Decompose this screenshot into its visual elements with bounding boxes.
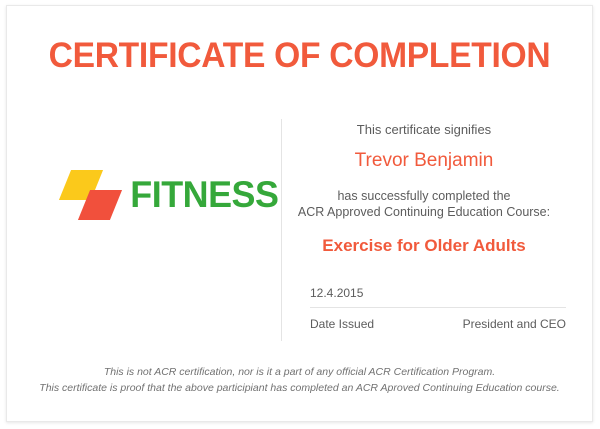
fitness-logo: FITNESS [63, 169, 281, 221]
footer-line-1: This is not ACR certification, nor is it… [7, 364, 592, 380]
signifies-label: This certificate signifies [282, 122, 566, 137]
certificate-title: CERTIFICATE OF COMPLETION [19, 36, 581, 76]
completion-line-2: ACR Approved Continuing Education Course… [282, 204, 566, 220]
logo-wordmark: FITNESS [130, 174, 278, 216]
signer-title-label: President and CEO [463, 317, 566, 331]
date-issued-value: 12.4.2015 [310, 286, 566, 307]
certificate-body: FITNESS This certificate signifies Trevo… [7, 106, 592, 351]
signature-labels: Date Issued President and CEO [310, 308, 566, 331]
completion-line-1: has successfully completed the [282, 188, 566, 204]
signature-block: 12.4.2015 Date Issued President and CEO [310, 286, 566, 331]
recipient-name: Trevor Benjamin [282, 150, 566, 172]
completion-statement: has successfully completed the ACR Appro… [282, 188, 566, 220]
details-column: This certificate signifies Trevor Benjam… [282, 106, 593, 351]
footer-line-2: This certificate is proof that the above… [7, 380, 592, 396]
date-issued-label: Date Issued [310, 317, 374, 331]
logo-column: FITNESS [7, 106, 281, 351]
certificate-footer: This is not ACR certification, nor is it… [7, 364, 592, 396]
certificate-card: CERTIFICATE OF COMPLETION FITNESS This c… [6, 5, 593, 422]
course-name: Exercise for Older Adults [282, 236, 566, 256]
logo-mark-icon [63, 169, 119, 221]
